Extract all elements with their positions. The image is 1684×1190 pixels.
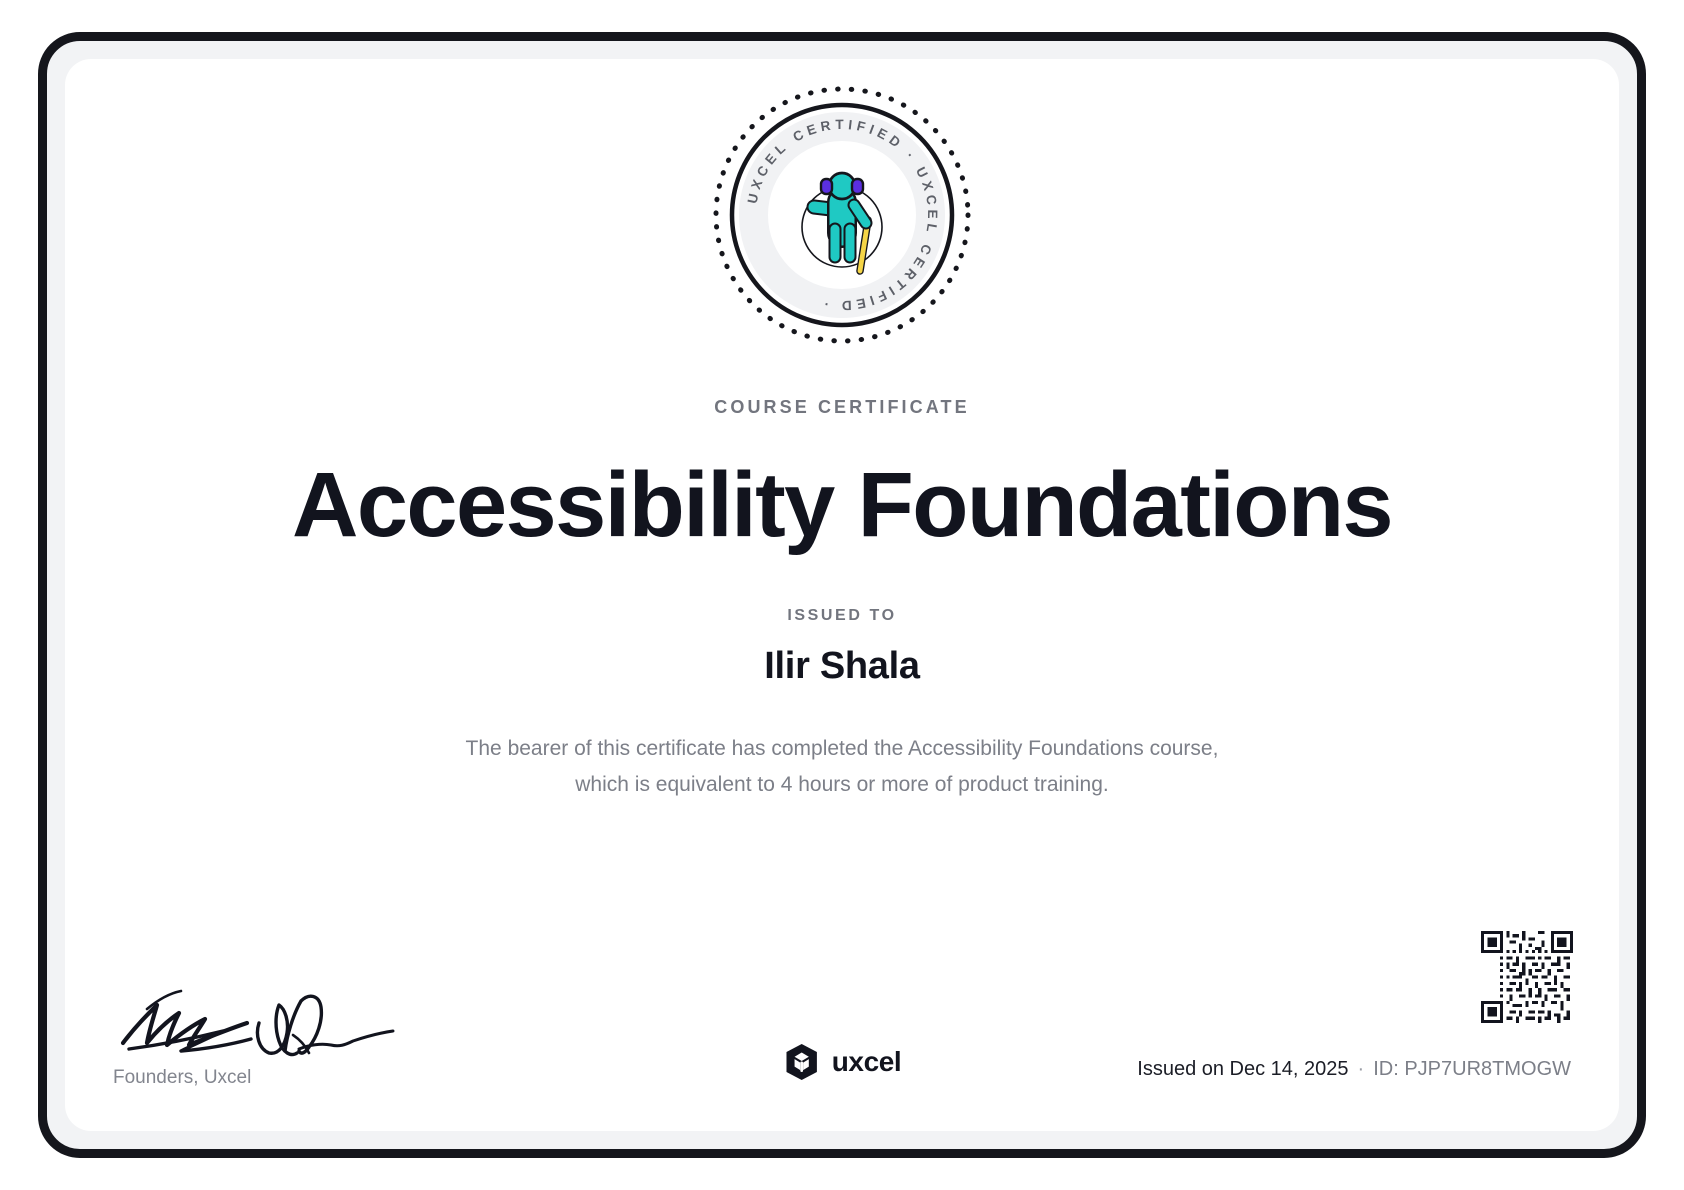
certificate-eyebrow: COURSE CERTIFICATE <box>65 397 1619 418</box>
certificate-meta: Issued on Dec 14, 2025 · ID: PJP7UR8TMOG… <box>1137 1058 1571 1081</box>
signature-block: Founders, Uxcel <box>113 979 453 1089</box>
certificate-id: ID: PJP7UR8TMOGW <box>1373 1058 1571 1081</box>
certificate-frame: UXCEL CERTIFIED · UXCEL CERTIFIED · <box>38 32 1646 1158</box>
certificate-footer: Founders, Uxcel uxcel Issued on Dec 14, … <box>65 931 1619 1131</box>
recipient-name: Ilir Shala <box>65 645 1619 688</box>
meta-separator: · <box>1358 1058 1365 1081</box>
signature-caption: Founders, Uxcel <box>113 1067 453 1089</box>
uxcel-certified-seal: UXCEL CERTIFIED · UXCEL CERTIFIED · <box>708 81 976 349</box>
issued-to-label: ISSUED TO <box>65 607 1619 625</box>
verification-qr-code[interactable] <box>1481 931 1573 1023</box>
issued-date: Issued on Dec 14, 2025 <box>1137 1058 1348 1081</box>
uxcel-brand-logo: uxcel <box>783 1043 902 1081</box>
uxcel-logo-icon <box>783 1043 821 1081</box>
certificate-card: UXCEL CERTIFIED · UXCEL CERTIFIED · <box>65 59 1619 1131</box>
certificate-title: Accessibility Foundations <box>65 457 1619 554</box>
certificate-body-text: The bearer of this certificate has compl… <box>462 731 1222 803</box>
founder-signatures <box>113 979 413 1061</box>
uxcel-wordmark: uxcel <box>832 1046 902 1078</box>
